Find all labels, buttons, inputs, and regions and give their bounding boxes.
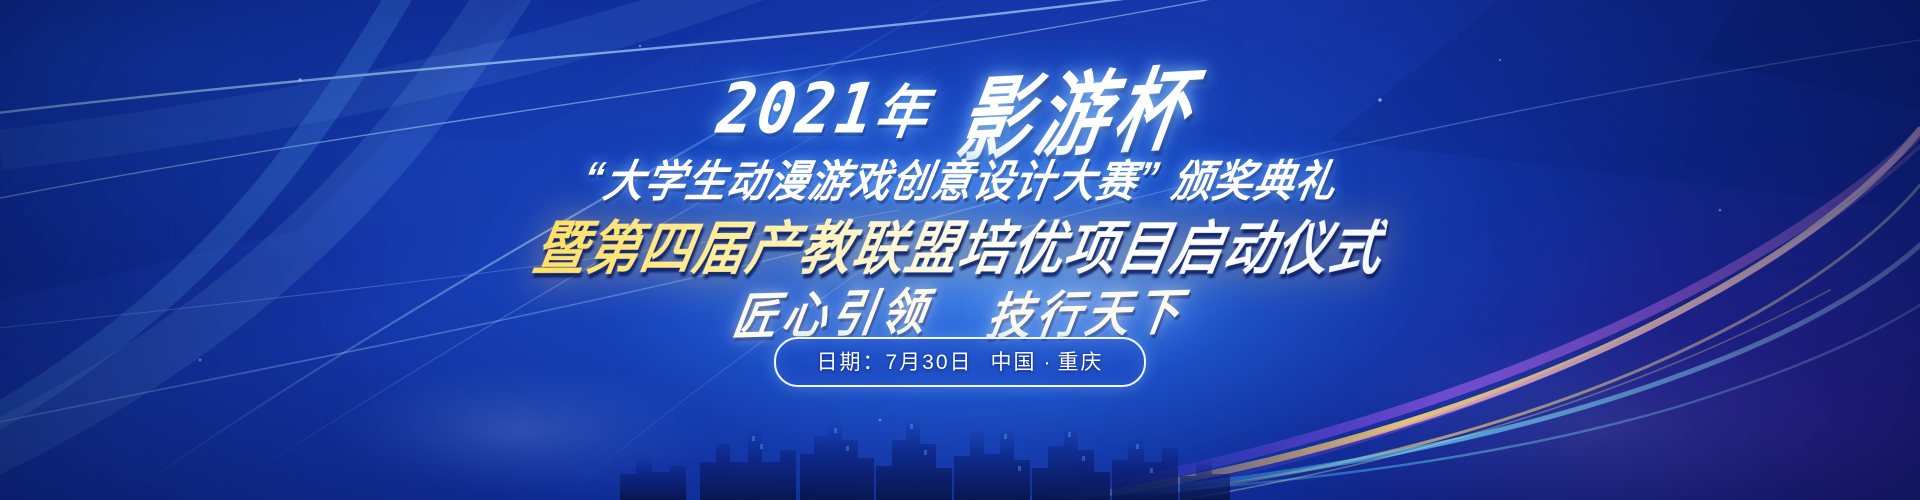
info-pill-wrapper: 日期：7月30日 中国·重庆 bbox=[0, 340, 1920, 384]
banner-content: 2021年 影游杯 “大学生动漫游戏创意设计大赛”颁奖典礼 暨第四届产教联盟培优… bbox=[0, 0, 1920, 500]
ceremony-label: 颁奖典礼 bbox=[1167, 146, 1342, 210]
year-number: 2021 bbox=[713, 67, 883, 149]
year-suffix: 年 bbox=[870, 80, 933, 147]
date-text: 日期：7月30日 bbox=[816, 346, 972, 376]
title-line-3: 暨第四届产教联盟培优项目启动仪式 bbox=[0, 212, 1920, 274]
country-label: 中国 bbox=[991, 351, 1037, 374]
slogan-line: 匠心引领 技行天下 bbox=[0, 280, 1920, 340]
city-label: 重庆 bbox=[1058, 351, 1104, 374]
title-line-1: 2021年 影游杯 bbox=[0, 62, 1920, 152]
year-text: 2021年 bbox=[713, 65, 936, 149]
date-value: 7月30日 bbox=[885, 351, 972, 374]
date-label: 日期： bbox=[816, 351, 885, 374]
event-banner: 2021年 影游杯 “大学生动漫游戏创意设计大赛”颁奖典礼 暨第四届产教联盟培优… bbox=[0, 0, 1920, 500]
program-launch-title: 暨第四届产教联盟培优项目启动仪式 bbox=[529, 201, 1392, 285]
title-line-2: “大学生动漫游戏创意设计大赛”颁奖典礼 bbox=[0, 152, 1920, 204]
separator-dot: · bbox=[1044, 351, 1051, 374]
date-location-pill: 日期：7月30日 中国·重庆 bbox=[774, 337, 1145, 387]
competition-name: 大学生动漫游戏创意设计大赛 bbox=[599, 146, 1143, 210]
location-text: 中国·重庆 bbox=[991, 346, 1104, 376]
